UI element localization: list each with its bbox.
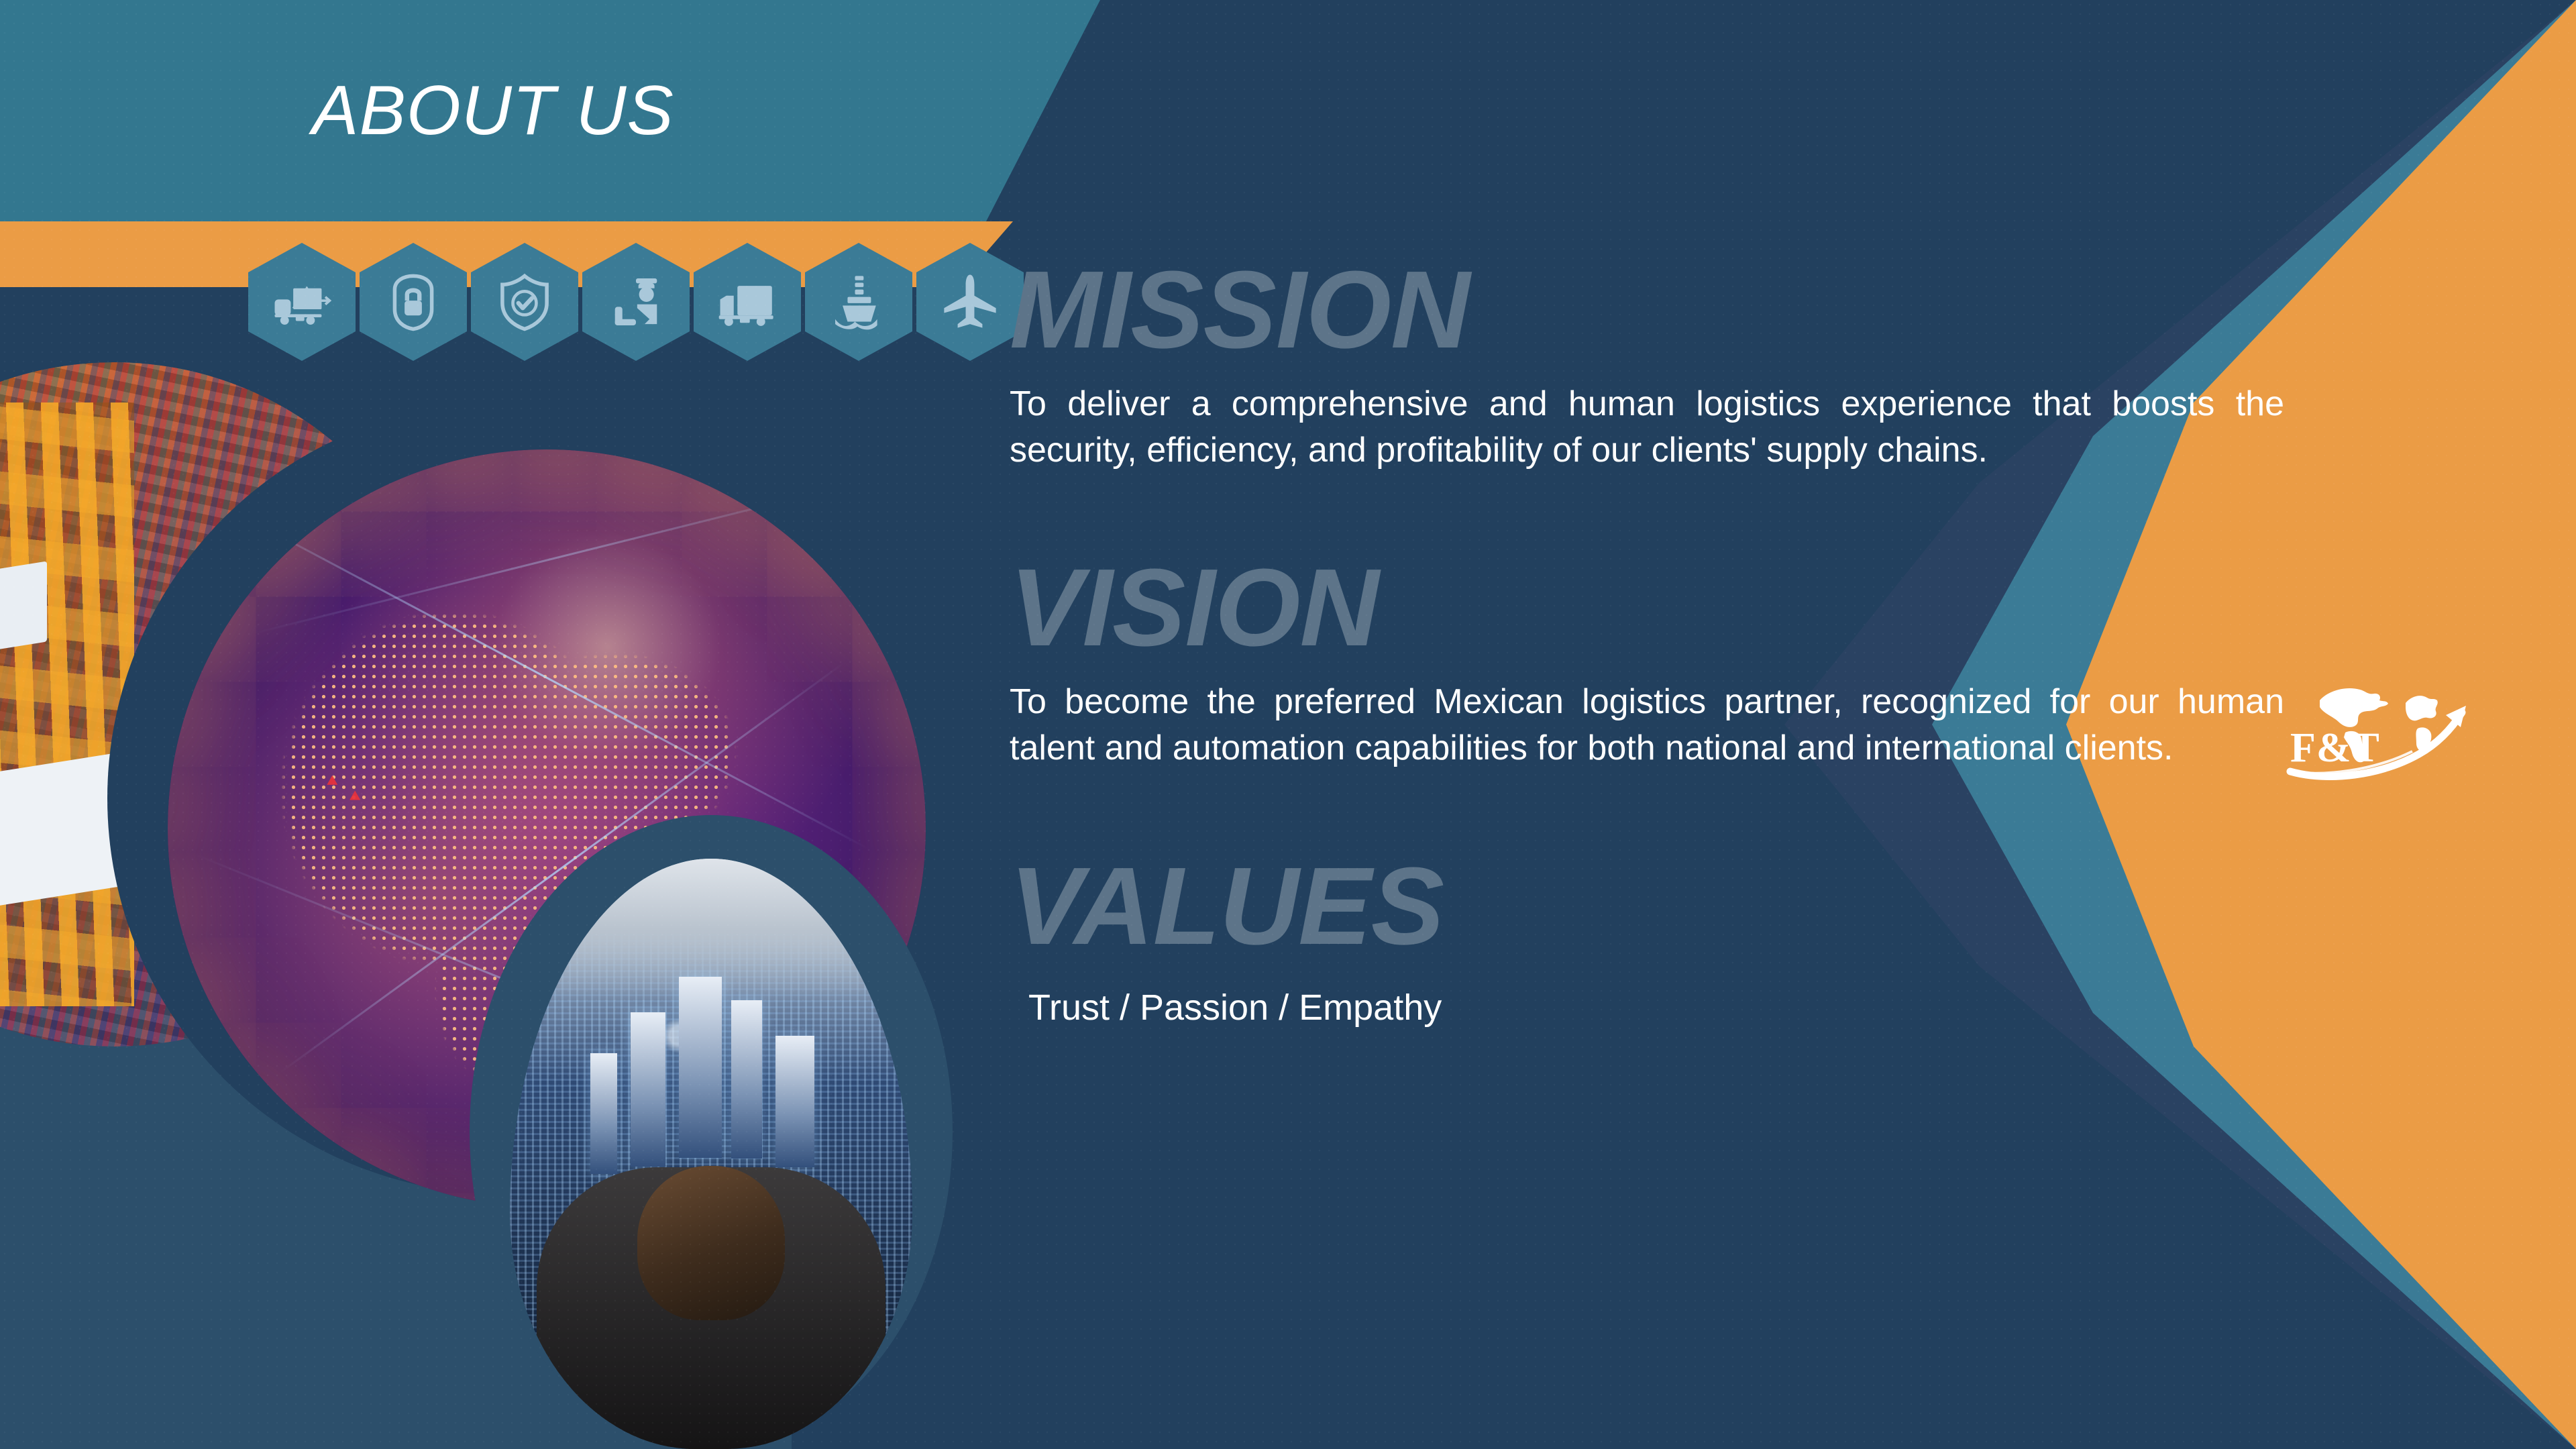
service-icon-strip [248, 243, 1024, 361]
shield-check-icon[interactable] [471, 243, 578, 361]
truck-trailer-icon[interactable] [694, 243, 801, 361]
section-vision: VISION To become the preferred Mexican l… [1010, 553, 2291, 771]
section-mission: MISSION To deliver a comprehensive and h… [1010, 255, 2291, 474]
vision-heading: VISION [1010, 553, 2291, 663]
airplane-icon[interactable] [916, 243, 1024, 361]
logo-wordmark: F&T [2290, 727, 2380, 769]
lock-shield-icon[interactable] [360, 243, 467, 361]
mission-heading: MISSION [1010, 255, 2291, 365]
businessman-cityscape-photo [510, 859, 912, 1449]
vision-body: To become the preferred Mexican logistic… [1010, 679, 2284, 771]
slide-canvas: F&T ABOUT US [0, 0, 2576, 1449]
mission-body: To deliver a comprehensive and human log… [1010, 381, 2284, 474]
section-values: VALUES Trust / Passion / Empathy [1010, 851, 2291, 1028]
content-column: MISSION To deliver a comprehensive and h… [1010, 255, 2291, 1028]
values-body: Trust / Passion / Empathy [1028, 987, 2291, 1028]
cargo-ship-icon[interactable] [805, 243, 912, 361]
company-logo: F&T [2281, 671, 2475, 798]
values-heading: VALUES [1010, 851, 2291, 961]
page-title: ABOUT US [0, 0, 986, 221]
customs-officer-icon[interactable] [582, 243, 690, 361]
truck-warning-icon[interactable] [248, 243, 356, 361]
